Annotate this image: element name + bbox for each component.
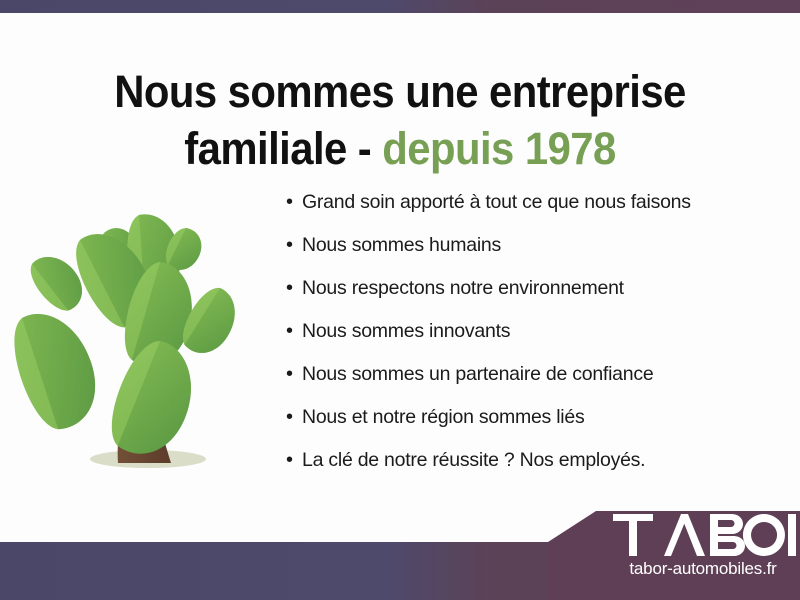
list-item-label: Nous sommes innovants [302,322,510,342]
list-item: • Nous et notre région sommes liés [286,407,786,450]
slide-title-line-2-plain: familiale - [184,123,382,174]
slide-title-accent: depuis 1978 [382,123,615,174]
top-accent-bar [0,0,800,13]
list-item: • Nous sommes un partenaire de confiance [286,364,786,407]
list-item-label: Nous et notre région sommes liés [302,408,584,428]
bullet-marker-icon: • [286,364,302,384]
list-item-label: Grand soin apporté à tout ce que nous fa… [302,193,691,213]
list-item-label: La clé de notre réussite ? Nos employés. [302,451,645,471]
list-item-label: Nous respectons notre environnement [302,279,624,299]
bullet-marker-icon: • [286,235,302,255]
slide-title: Nous sommes une entreprise familiale - d… [65,63,735,177]
slide-title-line-2: familiale - depuis 1978 [65,120,735,177]
bullet-marker-icon: • [286,407,302,427]
tree-leaf [99,333,208,466]
bullet-marker-icon: • [286,450,302,470]
slide-canvas: Nous sommes une entreprise familiale - d… [0,0,800,600]
logo-tagline: tabor-automobiles.fr [612,559,794,579]
list-item: • Nous sommes innovants [286,321,786,364]
tabor-logo-icon[interactable] [612,512,800,558]
bullet-marker-icon: • [286,278,302,298]
list-item: • Nous respectons notre environnement [286,278,786,321]
bullet-marker-icon: • [286,192,302,212]
bullet-list: • Grand soin apporté à tout ce que nous … [286,192,786,493]
list-item-label: Nous sommes un partenaire de confiance [302,365,653,385]
slide-title-line-1: Nous sommes une entreprise [65,63,735,120]
tree-illustration [8,178,286,488]
list-item: • Grand soin apporté à tout ce que nous … [286,192,786,235]
list-item: • La clé de notre réussite ? Nos employé… [286,450,786,493]
list-item: • Nous sommes humains [286,235,786,278]
list-item-label: Nous sommes humains [302,236,501,256]
bullet-marker-icon: • [286,321,302,341]
tree-leaf [8,301,108,436]
